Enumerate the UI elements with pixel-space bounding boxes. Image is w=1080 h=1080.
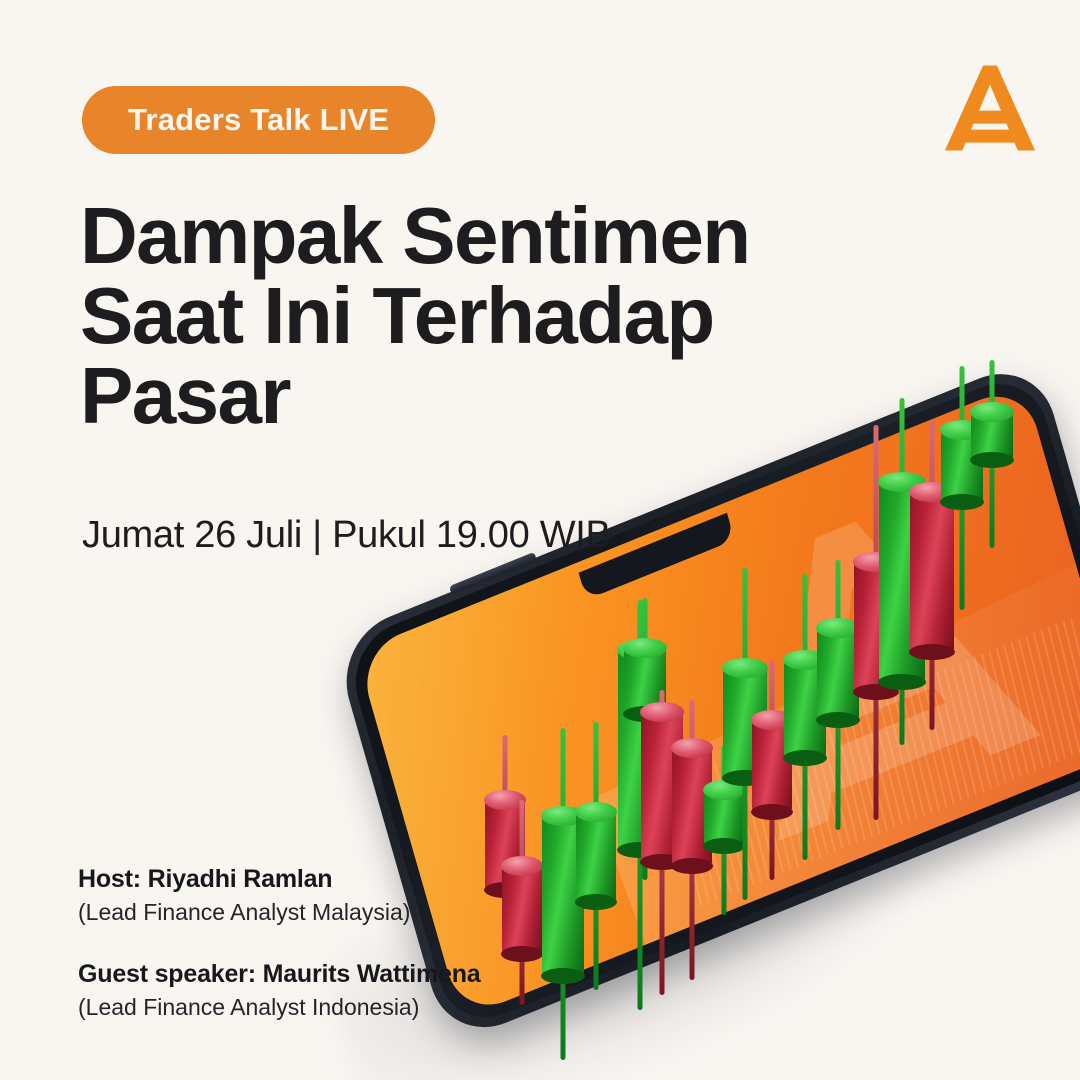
- page-title: Dampak Sentimen Saat Ini Terhadap Pasar: [80, 196, 800, 436]
- poster-content: Traders Talk LIVE Dampak Sentimen Saat I…: [0, 0, 1080, 1080]
- speaker-name: Host: Riyadhi Ramlan: [78, 865, 638, 894]
- speaker-name: Guest speaker: Maurits Wattimena: [78, 960, 638, 989]
- promo-poster: Traders Talk LIVE Dampak Sentimen Saat I…: [0, 0, 1080, 1080]
- brand-a-logo-icon: [938, 56, 1042, 160]
- speaker-guest: Guest speaker: Maurits Wattimena (Lead F…: [78, 960, 638, 1021]
- speaker-role: (Lead Finance Analyst Malaysia): [78, 899, 638, 926]
- speaker-host: Host: Riyadhi Ramlan (Lead Finance Analy…: [78, 865, 638, 926]
- speaker-list: Host: Riyadhi Ramlan (Lead Finance Analy…: [78, 865, 638, 1021]
- event-datetime: Jumat 26 Juli | Pukul 19.00 WIB: [82, 514, 611, 557]
- live-badge[interactable]: Traders Talk LIVE: [82, 86, 435, 154]
- speaker-role: (Lead Finance Analyst Indonesia): [78, 994, 638, 1021]
